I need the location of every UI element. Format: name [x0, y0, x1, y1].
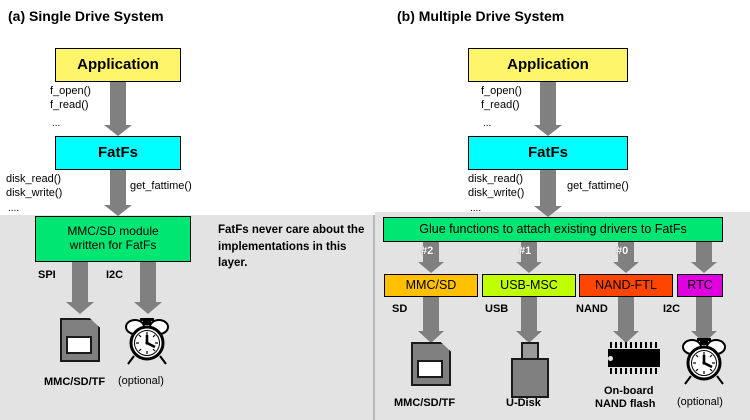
panel-b-driver-box-rtc[interactable]: RTC [677, 274, 723, 297]
panel-a-api-call-1: f_open() [50, 85, 91, 99]
panel-b-disk-call-2: disk_write() [468, 187, 524, 201]
nand-flash-chip-icon [608, 342, 660, 374]
panel-b-device-label-nand-2: NAND flash [595, 397, 656, 412]
nand-chip-notch [608, 356, 613, 361]
panel-a-fattime-call: get_fattime() [130, 180, 192, 194]
panel-a-application-label: Application [77, 56, 159, 73]
panel-b-driver-label-mmc-sd: MMC/SD [406, 278, 457, 292]
panel-b-title: (b) Multiple Drive System [397, 8, 564, 24]
panel-b-driver-box-usb-msc[interactable]: USB-MSC [482, 274, 576, 297]
alarm-clock-icon-b [679, 336, 729, 386]
panel-a-fatfs-box[interactable]: FatFs [55, 136, 181, 170]
sd-card-label-window [66, 336, 92, 354]
panel-a-arrow-spi [62, 262, 98, 314]
panel-b-drive-tag-1: #1 [519, 245, 531, 257]
panel-b-glue-box[interactable]: Glue functions to attach existing driver… [383, 217, 723, 242]
nand-chip-body [608, 349, 660, 367]
panel-b-driver-label-usb-msc: USB-MSC [500, 278, 558, 292]
panel-b-application-box[interactable]: Application [468, 48, 628, 82]
panel-a-api-call-2: f_read() [50, 99, 89, 113]
panel-b-api-call-3: ... [483, 118, 491, 131]
panel-b-arrow-glue-to-rtc [686, 242, 722, 274]
panel-b-bus-label-nand: NAND [576, 302, 608, 317]
panel-a-module-box[interactable]: MMC/SD module written for FatFs [35, 216, 191, 262]
panel-a-api-call-3: ... [52, 118, 60, 131]
panel-b-fattime-call: get_fattime() [567, 180, 629, 194]
panel-a-bus-i2c-label: I2C [106, 268, 123, 283]
sd-card-icon-b [411, 342, 451, 386]
nand-chip-legs-top [610, 342, 658, 348]
panel-b-fatfs-box[interactable]: FatFs [468, 136, 628, 170]
panel-b-device-label-u-disk: U-Disk [506, 396, 541, 411]
panel-b-driver-label-nand-ftl: NAND-FTL [595, 278, 657, 292]
panel-b-drive-tag-2: #2 [421, 245, 433, 257]
panel-b-fatfs-label: FatFs [528, 144, 568, 161]
panel-a-device-right-label: (optional) [118, 375, 164, 389]
nand-chip-legs-bottom [610, 368, 658, 374]
panel-a-arrow-i2c [130, 262, 166, 314]
panel-a-note: FatFs never care about the implementatio… [218, 222, 378, 272]
diagram-canvas: (a) Single Drive System Application f_op… [0, 0, 750, 420]
panel-a-disk-call-3: .... [8, 203, 19, 216]
panel-b-disk-call-3: .... [470, 203, 481, 216]
panel-b-arrow-sd-bus [413, 297, 449, 343]
usb-flash-drive-icon [511, 342, 549, 398]
panel-a-fatfs-label: FatFs [98, 144, 138, 161]
panel-a-disk-call-1: disk_read() [6, 173, 61, 187]
sd-card-icon [60, 318, 100, 362]
panel-b-application-label: Application [507, 56, 589, 73]
panel-b-bus-label-i2c: I2C [663, 302, 680, 317]
panel-b-bus-label-sd: SD [392, 302, 407, 317]
panel-b-driver-label-rtc: RTC [687, 278, 712, 292]
panel-b-drive-tag-0: #0 [616, 245, 628, 257]
panel-b-api-call-2: f_read() [481, 99, 520, 113]
panel-a-bus-spi-label: SPI [38, 268, 56, 283]
panel-a-disk-call-2: disk_write() [6, 187, 62, 201]
panel-b-glue-label: Glue functions to attach existing driver… [419, 222, 686, 236]
panel-b-driver-box-nand-ftl[interactable]: NAND-FTL [579, 274, 673, 297]
panel-a-title: (a) Single Drive System [8, 8, 164, 24]
panel-a-application-box[interactable]: Application [55, 48, 181, 82]
panel-a-arrow-app-to-fatfs [100, 82, 136, 136]
panel-a-device-left-label: MMC/SD/TF [44, 375, 105, 390]
panel-b-arrow-fatfs-to-glue [530, 170, 566, 218]
panel-b-arrow-usb-bus [511, 297, 547, 343]
panel-a-module-label-1: MMC/SD module [67, 225, 158, 239]
panel-a-module-label-2: written for FatFs [70, 239, 157, 253]
panel-b-bus-label-usb: USB [485, 302, 508, 317]
panel-b-arrow-app-to-fatfs [530, 82, 566, 136]
usb-body [511, 358, 549, 398]
panel-b-api-call-1: f_open() [481, 85, 522, 99]
panel-b-device-label-mmc-sd-tf: MMC/SD/TF [394, 396, 455, 411]
alarm-clock-icon [122, 316, 172, 366]
panel-b-device-label-optional: (optional) [677, 396, 723, 410]
panel-b-arrow-nand-bus [608, 297, 644, 343]
panel-b-disk-call-1: disk_read() [468, 173, 523, 187]
panel-b-driver-box-mmc-sd[interactable]: MMC/SD [384, 274, 478, 297]
sd-card-label-window-b [417, 360, 443, 378]
